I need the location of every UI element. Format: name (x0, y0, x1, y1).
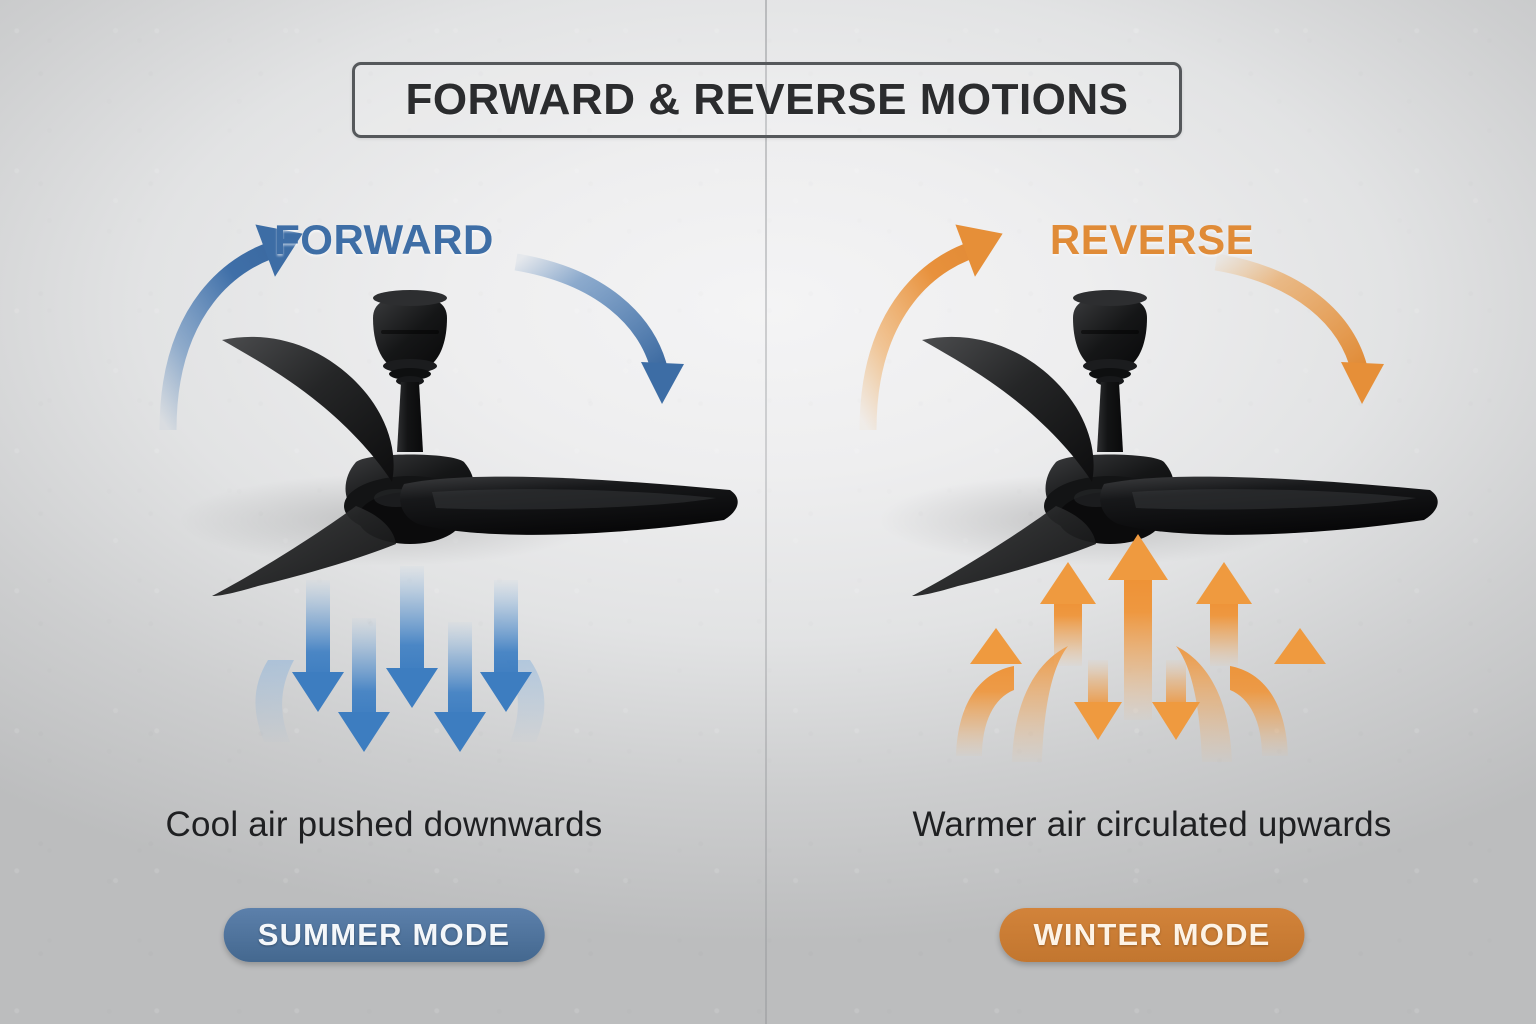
airflow-arrow-down-1 (292, 580, 344, 712)
airflow-arrow-down-4 (434, 622, 486, 752)
airflow-arrow-down-inner-left (1074, 660, 1122, 740)
airflow-arrow-up-right (1176, 562, 1252, 762)
winter-mode-badge[interactable]: WINTER MODE (999, 908, 1304, 962)
rotation-arrow-right (1216, 262, 1384, 404)
airflow-wisp-left (255, 660, 294, 742)
infographic-canvas: FORWARD & REVERSE MOTIONS (0, 0, 1536, 1024)
direction-label-forward: FORWARD (0, 216, 768, 264)
airflow-arrow-up-outer-right (1230, 628, 1326, 756)
airflow-arrows-down (255, 566, 544, 752)
winter-illustration (768, 0, 1536, 1024)
rotation-arrow-right (516, 262, 684, 404)
panel-winter: REVERSE Warmer air circulated upwards WI… (768, 0, 1536, 1024)
airflow-arrow-down-3 (386, 566, 438, 708)
direction-label-reverse: REVERSE (768, 216, 1536, 264)
summer-mode-badge[interactable]: SUMMER MODE (224, 908, 545, 962)
caption-summer: Cool air pushed downwards (0, 805, 768, 845)
airflow-arrow-up-left (1012, 562, 1096, 762)
panel-summer: FORWARD Cool air pushed downwards SUMMER… (0, 0, 768, 1024)
summer-illustration (0, 0, 768, 1024)
airflow-arrow-up-outer-left (954, 622, 1022, 756)
caption-winter: Warmer air circulated upwards (768, 805, 1536, 845)
airflow-arrow-down-2 (338, 618, 390, 752)
